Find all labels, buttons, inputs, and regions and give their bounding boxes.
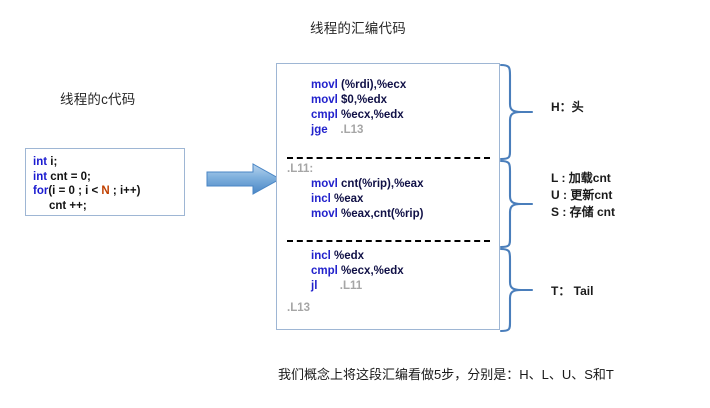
right-arrow-icon — [206, 162, 282, 196]
c-code-text: i; — [47, 156, 57, 168]
asm-line: jl .L11 — [311, 280, 362, 293]
brace-head — [499, 63, 535, 161]
asm-operands: %eax,cnt(%rip) — [338, 208, 424, 220]
brace-load-update-store — [499, 159, 535, 249]
asm-line: movl (%rdi),%ecx — [311, 79, 406, 92]
c-code-box: int i; int cnt = 0; for(i = 0 ; i < N ; … — [25, 148, 185, 216]
asm-operands: %ecx,%edx — [338, 109, 404, 121]
c-code-text: cnt ++; — [33, 200, 87, 212]
asm-jump-target: .L11 — [317, 280, 362, 292]
c-code-title: 线程的c代码 — [60, 88, 135, 108]
asm-label-L11: .L11: — [287, 163, 313, 176]
asm-mnemonic: jge — [311, 124, 328, 136]
asm-mnemonic: cmpl — [311, 109, 338, 121]
asm-jump-target: .L13 — [328, 124, 364, 136]
c-constant: N — [101, 185, 109, 197]
asm-operands: %edx — [331, 250, 364, 262]
annotation-head: H：头 — [551, 99, 584, 115]
asm-operands: cnt(%rip),%eax — [338, 178, 424, 190]
annotation-tail: T： Tail — [551, 283, 593, 299]
c-code-line: int i; — [33, 155, 184, 170]
asm-line: movl $0,%edx — [311, 94, 387, 107]
c-code-text: cnt = 0; — [47, 171, 91, 183]
asm-mnemonic: movl — [311, 178, 338, 190]
group-separator-2 — [287, 240, 490, 242]
c-keyword: int — [33, 156, 47, 168]
asm-line: movl %eax,cnt(%rip) — [311, 208, 423, 221]
asm-line: incl %edx — [311, 250, 364, 263]
slide-canvas: 线程的c代码 线程的汇编代码 int i; int cnt = 0; for(i… — [0, 0, 710, 408]
asm-operands: %eax — [331, 193, 364, 205]
annotation-update: U : 更新cnt — [551, 187, 612, 203]
annotation-load: L : 加载cnt — [551, 170, 611, 186]
asm-line: incl %eax — [311, 193, 363, 206]
asm-line: cmpl %ecx,%edx — [311, 109, 404, 122]
c-keyword: for — [33, 185, 48, 197]
c-code-line: int cnt = 0; — [33, 170, 184, 185]
c-keyword: int — [33, 171, 47, 183]
brace-tail — [499, 247, 535, 333]
slide-caption: 我们概念上将这段汇编看做5步，分别是：H、L、U、S和T — [278, 364, 614, 383]
asm-operands: $0,%edx — [338, 94, 387, 106]
asm-mnemonic: movl — [311, 208, 338, 220]
asm-line: cmpl %ecx,%edx — [311, 265, 404, 278]
asm-operands: %ecx,%edx — [338, 265, 404, 277]
annotation-store: S : 存储 cnt — [551, 204, 615, 220]
asm-line: movl cnt(%rip),%eax — [311, 178, 423, 191]
group-separator-1 — [287, 157, 490, 159]
c-code-text: ; i++) — [110, 185, 141, 197]
c-code-text: (i = 0 ; i < — [48, 185, 101, 197]
asm-mnemonic: incl — [311, 193, 331, 205]
asm-mnemonic: movl — [311, 79, 338, 91]
assembly-code-title: 线程的汇编代码 — [310, 17, 406, 37]
asm-line: jge .L13 — [311, 124, 363, 137]
asm-operands: (%rdi),%ecx — [338, 79, 406, 91]
asm-mnemonic: incl — [311, 250, 331, 262]
c-code-line: cnt ++; — [33, 199, 184, 214]
asm-label-L13: .L13 — [287, 302, 310, 315]
assembly-code-box: movl (%rdi),%ecx movl $0,%edx cmpl %ecx,… — [276, 63, 500, 330]
asm-mnemonic: movl — [311, 94, 338, 106]
asm-mnemonic: cmpl — [311, 265, 338, 277]
c-code-line: for(i = 0 ; i < N ; i++) — [33, 184, 184, 199]
